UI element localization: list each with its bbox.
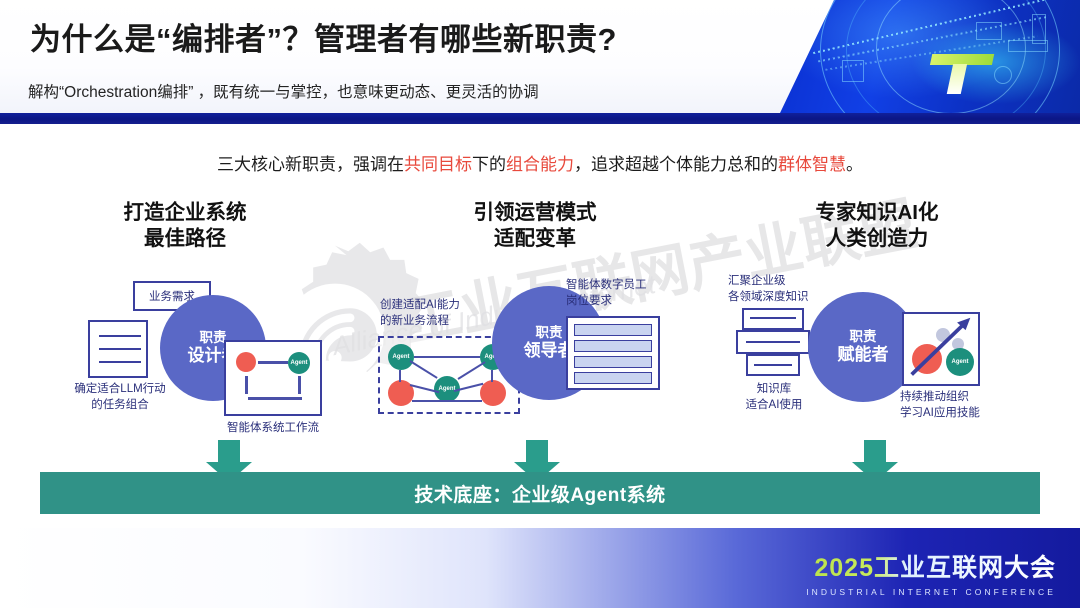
conference-logo-main: 2025工业互联网大会 (806, 548, 1056, 584)
lead-highlight-2: 组合能力 (506, 155, 574, 174)
network-node-user-b (480, 380, 506, 406)
role-2-prefix: 职责 (536, 325, 563, 341)
column-1-bottom-caption: 智能体系统工作流 (208, 421, 338, 437)
column-2-title: 引领运营模式 适配变革 (370, 200, 700, 252)
role-3-prefix: 职责 (850, 329, 877, 345)
column-3-left-caption: 知识库 适合AI使用 (718, 382, 830, 413)
lead-part-3: ，追求超越个体能力总和的 (574, 155, 778, 174)
workflow-node-label: Agent (291, 360, 308, 366)
page-title: 为什么是“编排者”？管理者有哪些新职责? (30, 14, 617, 59)
column-designer: 打造企业系统 最佳路径 确定适合LLM行动 的任务组合 业务需求 职责 设计者 … (20, 190, 350, 520)
workflow-node-teal: Agent (288, 352, 310, 374)
network-node-label: Agent (393, 354, 410, 360)
role-1-prefix: 职责 (200, 330, 227, 346)
network-node-agent-a: Agent (388, 344, 414, 370)
header-tech-graphic (780, 0, 1080, 113)
lead-highlight-3: 群体智慧 (778, 155, 846, 174)
agent-workflow-box: Agent (224, 340, 322, 416)
column-leader: 引领运营模式 适配变革 创建适配AI能力 的新业务流程 Agent Agent … (370, 190, 700, 520)
lead-part-4: 。 (846, 155, 863, 174)
skill-growth-box: Agent (902, 312, 980, 386)
diagram-stage: 工业互联网产业联盟 Alliance of Industrial Interne… (0, 190, 1080, 520)
column-3-right-caption: 持续推动组织 学习AI应用技能 (900, 390, 1040, 421)
conference-logo: 2025工业互联网大会 INDUSTRIAL INTERNET CONFEREN… (806, 548, 1056, 597)
header-divider (0, 113, 1080, 124)
foundation-bar: 技术底座：企业级Agent系统 (40, 472, 1040, 514)
growth-arrow-icon (904, 314, 978, 384)
slide-footer: 2025工业互联网大会 INDUSTRIAL INTERNET CONFEREN… (0, 528, 1080, 608)
lead-part-2: 下的 (472, 155, 506, 174)
job-spec-box (566, 316, 660, 390)
role-3-name: 赋能者 (838, 345, 889, 365)
column-enabler: 专家知识AI化 人类创造力 汇聚企业级 各领域深度知识 知识库 适合AI使用 职… (712, 190, 1042, 520)
knowledge-base-icon (736, 308, 810, 380)
t-logo-icon (924, 54, 995, 94)
conference-logo-sub: INDUSTRIAL INTERNET CONFERENCE (806, 587, 1056, 597)
column-2-left-caption: 创建适配AI能力 的新业务流程 (380, 298, 510, 329)
lead-part-1: 三大核心新职责，强调在 (217, 155, 404, 174)
slide-header: 为什么是“编排者”？管理者有哪些新职责? 解构“Orchestration编排”… (0, 0, 1080, 113)
column-1-left-caption: 确定适合LLM行动 的任务组合 (60, 382, 180, 413)
column-1-title: 打造企业系统 最佳路径 (20, 200, 350, 252)
page-subtitle: 解构“Orchestration编排” ，既有统一与掌控，也意味更动态、更灵活的… (28, 80, 539, 102)
foundation-label: 技术底座：企业级Agent系统 (414, 480, 665, 507)
task-doc-icon (88, 320, 148, 378)
lead-statement: 三大核心新职责，强调在共同目标下的组合能力，追求超越个体能力总和的群体智慧。 (0, 150, 1080, 175)
lead-highlight-1: 共同目标 (404, 155, 472, 174)
column-2-right-caption: 智能体数字员工 岗位要求 (566, 278, 706, 309)
workflow-node-red (236, 352, 256, 372)
column-3-title: 专家知识AI化 人类创造力 (712, 200, 1042, 252)
